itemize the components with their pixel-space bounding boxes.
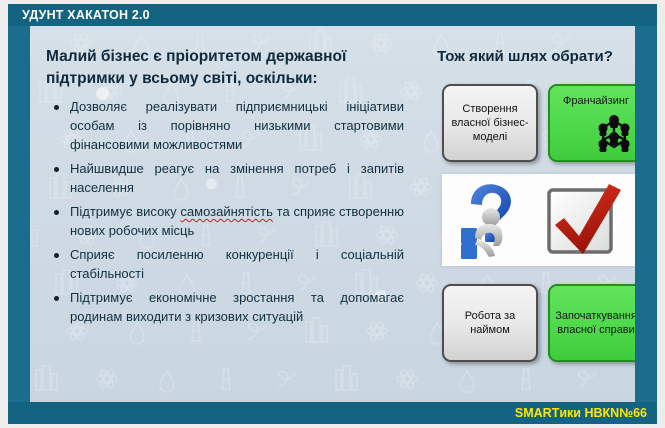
option-label: Франчайзинг: [563, 94, 629, 108]
benefits-list: Дозволяє реалізувати підприємницькі ініц…: [52, 98, 409, 327]
right-column-title: Тож який шлях обрати?: [415, 48, 635, 65]
option-box-employment[interactable]: Робота за наймом: [442, 284, 538, 362]
list-item: Підтримує економічне зростання та допома…: [52, 289, 404, 327]
option-box-franchising[interactable]: Франчайзинг: [548, 84, 635, 162]
page-title: Малий бізнес є пріоритетом державної під…: [46, 46, 401, 90]
list-item-text: Дозволяє реалізувати підприємницькі ініц…: [70, 99, 404, 152]
list-item: Сприяє посиленню конкуренції і соціальні…: [52, 246, 404, 284]
option-label: Започаткування власної справи: [555, 309, 635, 338]
left-accent-bar: [8, 4, 30, 424]
option-label: Створення власної бізнес-моделі: [449, 102, 531, 145]
list-item-text: Найшвидше реагує на змінення потреб і за…: [70, 161, 404, 195]
footer-credit: SMARTики НВКN№66: [515, 406, 647, 420]
right-accent-bar: [635, 4, 657, 424]
network-icon: [590, 114, 635, 158]
option-label: Робота за наймом: [449, 309, 531, 338]
slide-canvas: Малий бізнес є пріоритетом державної під…: [30, 26, 635, 402]
option-box-business-model[interactable]: Створення власної бізнес-моделі: [442, 84, 538, 162]
slide-title-bar: УДУНТ ХАКАТОН 2.0: [8, 4, 657, 26]
list-item: Підтримує високу самозайнятість та сприя…: [52, 203, 404, 241]
list-item-text: Підтримує високу: [70, 204, 180, 219]
slide-footer-bar: SMARTики НВКN№66: [8, 402, 657, 424]
slide: Малий бізнес є пріоритетом державної під…: [0, 0, 665, 428]
right-column: Тож який шлях обрати? Створення власної …: [415, 26, 635, 402]
misspelled-word: самозайнятість: [180, 204, 273, 219]
list-item-text: Сприяє посиленню конкуренції і соціальні…: [70, 247, 404, 281]
list-item: Дозволяє реалізувати підприємницькі ініц…: [52, 98, 404, 155]
left-text-column: Малий бізнес є пріоритетом державної під…: [30, 26, 415, 402]
option-box-own-business[interactable]: Започаткування власної справи: [548, 284, 635, 362]
question-mark-thinker-icon: [451, 178, 533, 262]
slide-title: УДУНТ ХАКАТОН 2.0: [22, 8, 150, 22]
list-item-text: Підтримує економічне зростання та допома…: [70, 290, 404, 324]
red-checkmark-checkbox-icon: [541, 178, 629, 264]
list-item: Найшвидше реагує на змінення потреб і за…: [52, 160, 404, 198]
